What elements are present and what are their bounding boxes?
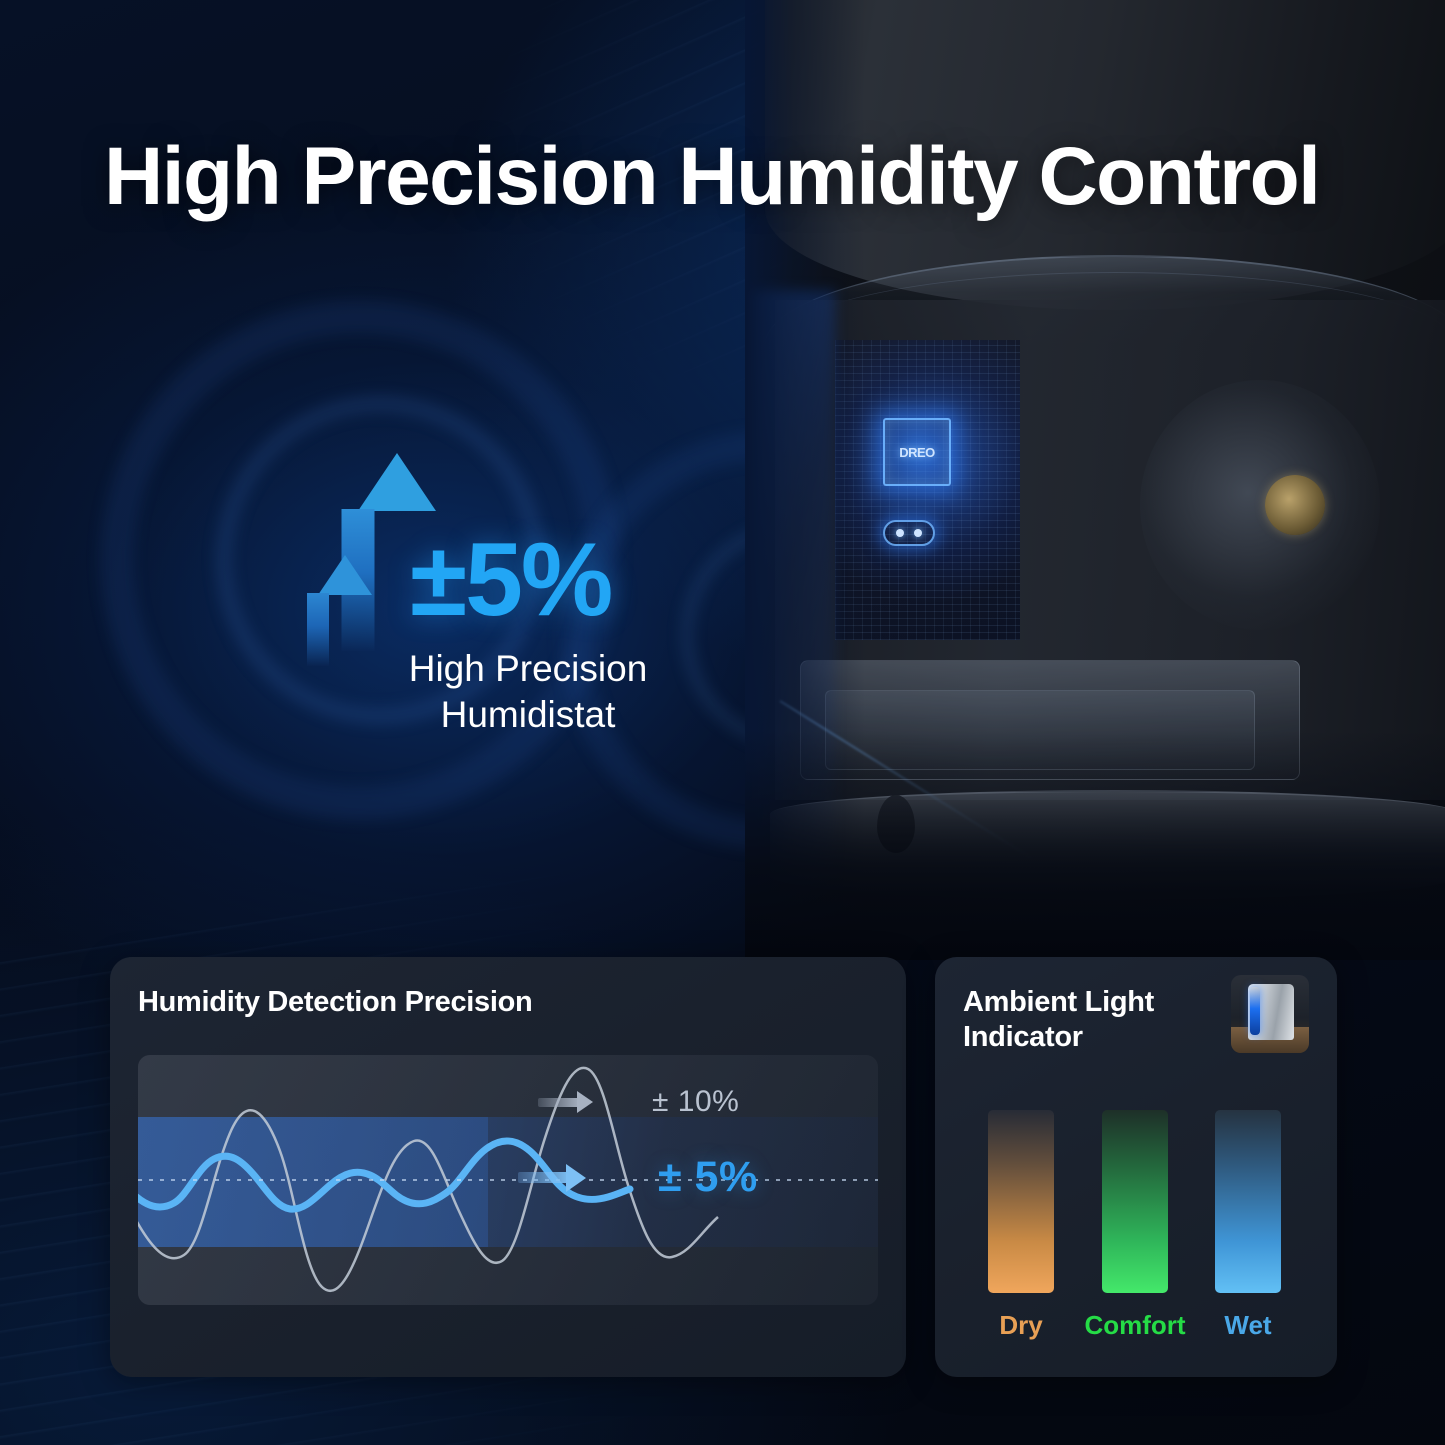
stat-caption-line2: Humidistat	[378, 692, 678, 738]
page-title: High Precision Humidity Control	[104, 136, 1364, 218]
ambient-bar-wet: Wet	[1215, 1110, 1281, 1293]
panel-title: Ambient Light Indicator	[963, 985, 1154, 1055]
bar-fill	[1102, 1110, 1168, 1293]
chart-row-5-percent: ± 5%	[518, 1153, 758, 1202]
bar-fill	[988, 1110, 1054, 1293]
panel-title-line2: Indicator	[963, 1020, 1154, 1055]
led-dot	[914, 529, 922, 537]
panel-title-line1: Ambient Light	[963, 985, 1154, 1020]
humidifier-motor	[1140, 380, 1380, 630]
ambient-bar-comfort: Comfort	[1102, 1110, 1168, 1293]
value-5-percent: ± 5%	[658, 1153, 758, 1202]
led-dot	[896, 529, 904, 537]
thumbnail-light-strip	[1250, 987, 1260, 1035]
arrow-right-icon	[538, 1098, 580, 1107]
stat-value: ±5%	[410, 528, 611, 632]
bar-label-comfort: Comfort	[1084, 1310, 1185, 1341]
chip-label: DREO	[899, 445, 935, 460]
chart-row-10-percent: ± 10%	[538, 1085, 739, 1119]
ambient-bar-group: Dry Comfort Wet	[988, 1110, 1318, 1295]
center-dotted-line	[138, 1179, 878, 1181]
panel-title: Humidity Detection Precision	[138, 985, 532, 1020]
bar-label-dry: Dry	[999, 1310, 1042, 1341]
motor-core	[1265, 475, 1325, 535]
ambient-bar-dry: Dry	[988, 1110, 1054, 1293]
hero-bottom-fade	[745, 730, 1445, 960]
dreo-chip-icon: DREO	[883, 418, 951, 486]
panel-humidity-detection-precision: Humidity Detection Precision ± 10% ±	[110, 957, 906, 1377]
stat-caption: High Precision Humidistat	[378, 646, 678, 739]
bar-fill	[1215, 1110, 1281, 1293]
panel-ambient-light-indicator: Ambient Light Indicator Dry Comfort Wet	[935, 957, 1337, 1377]
arrow-right-icon	[518, 1172, 570, 1183]
bar-label-wet: Wet	[1224, 1310, 1271, 1341]
stat-caption-line1: High Precision	[378, 646, 678, 692]
value-10-percent: ± 10%	[652, 1085, 739, 1119]
sensor-component	[883, 520, 935, 546]
precision-chart: ± 10% ± 5%	[138, 1055, 878, 1305]
humidifier-thumbnail	[1231, 975, 1309, 1053]
marketing-banner: DREO High Precision Humidity Control ±5%	[0, 0, 1445, 1445]
